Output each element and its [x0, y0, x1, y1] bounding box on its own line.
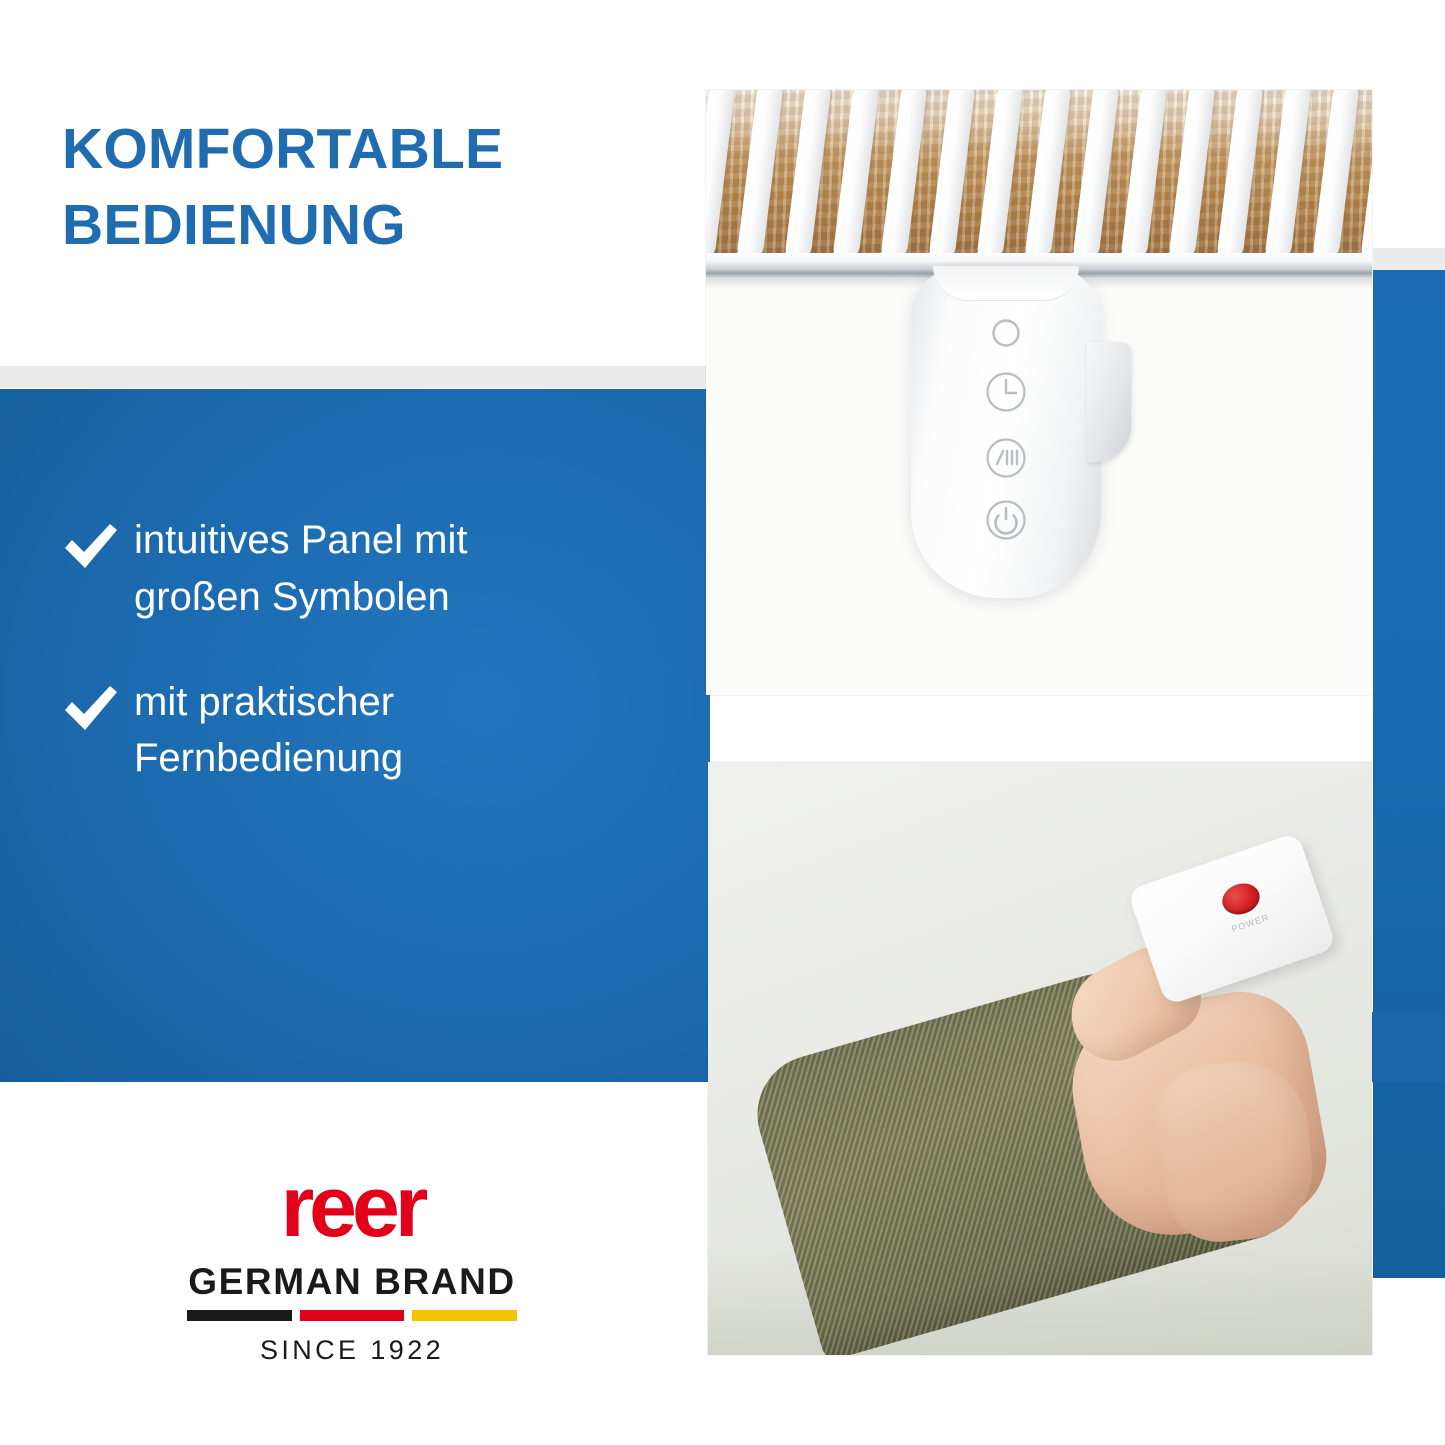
power-button[interactable]: [1218, 879, 1264, 920]
brand-logo: reer GERMAN BRAND SINCE 1922: [172, 1168, 532, 1366]
control-unit-side-tab: [1087, 342, 1131, 462]
logo-tagline: GERMAN BRAND: [172, 1263, 532, 1300]
flag-bar-black: [187, 1310, 292, 1321]
grey-accent-strip-left: [0, 366, 710, 388]
product-feature-banner: KOMFORTABLE BEDIENUNG intuitives Panel m…: [0, 0, 1445, 1445]
rail-hook: [836, 90, 884, 269]
rail-hook: [1316, 90, 1364, 269]
list-item: mit praktischer Fernbedienung: [62, 674, 662, 788]
list-item: intuitives Panel mit großen Symbolen: [62, 512, 662, 626]
timer-clock-icon[interactable]: [982, 368, 1030, 416]
led-indicator-icon[interactable]: [989, 316, 1023, 350]
rail-hook: [1268, 90, 1316, 269]
rail-hook: [1076, 90, 1124, 269]
logo-since-label: SINCE 1922: [172, 1335, 532, 1366]
product-photo-control-panel: [706, 90, 1372, 695]
rail-hook-row: [706, 90, 1372, 269]
feature-list: intuitives Panel mit großen Symbolen mit…: [62, 512, 662, 835]
list-item-label: intuitives Panel mit großen Symbolen: [122, 512, 604, 626]
check-icon: [62, 522, 122, 574]
rail-hook: [740, 90, 788, 269]
power-icon[interactable]: [982, 496, 1030, 544]
rail-hook: [1028, 90, 1076, 269]
list-item-label: mit praktischer Fernbedienung: [122, 674, 604, 788]
control-unit: [911, 268, 1101, 598]
page-title: KOMFORTABLE BEDIENUNG: [62, 112, 642, 264]
control-unit-cap: [933, 266, 1079, 301]
rail-hook: [1220, 90, 1268, 269]
rail-hook: [884, 90, 932, 269]
product-photo-remote: POWER: [708, 762, 1372, 1355]
rail-hook: [706, 90, 740, 269]
rail-hook: [1124, 90, 1172, 269]
grey-accent-strip-right: [1373, 248, 1445, 270]
blue-accent-block-right: [1373, 270, 1445, 1278]
rail-hook: [1364, 90, 1372, 269]
flag-bar-red: [300, 1310, 405, 1321]
rail-hook: [1172, 90, 1220, 269]
check-icon: [62, 684, 122, 736]
rail-hook: [980, 90, 1028, 269]
german-flag-bars: [187, 1310, 517, 1321]
rail-hook: [932, 90, 980, 269]
speed-level-icon[interactable]: [982, 434, 1030, 482]
flag-bar-gold: [412, 1310, 517, 1321]
logo-wordmark: reer: [172, 1168, 532, 1247]
rail-hook: [788, 90, 836, 269]
